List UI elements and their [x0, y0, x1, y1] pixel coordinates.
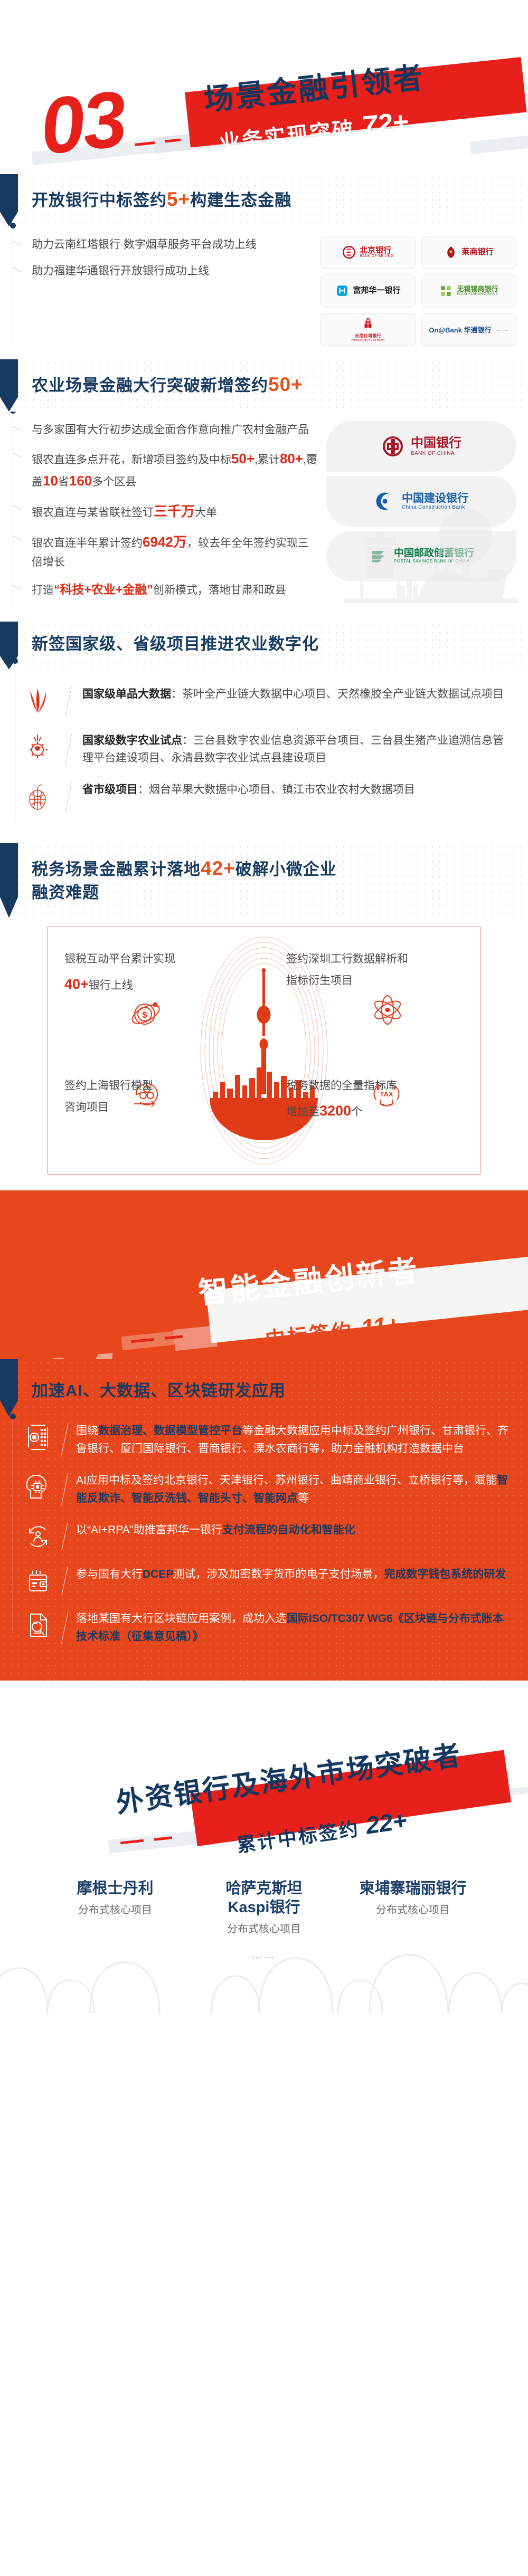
open-bank-section: 开放银行中标签约5+构建生态金融 助力云南红塔银行 数字烟草服务平台成功上线 助…	[0, 174, 528, 359]
overseas-bank-item: 柬埔寨瑞丽银行 分布式核心项目	[352, 1879, 474, 1916]
farm-tree-watermark-icon	[344, 505, 518, 622]
list-item-text: 落地某国有大行区块链应用案例，成功入选国际ISO/TC307 WG6《区块链与分…	[76, 1610, 512, 1646]
list-item: 落地某国有大行区块链应用案例，成功入选国际ISO/TC307 WG6《区块链与分…	[23, 1610, 512, 1646]
agri-bullets: 与多家国有大行初步达成全面合作意向推广农村金融产品 银农直连多点开花，新增项目签…	[23, 421, 318, 608]
heading-marker	[0, 359, 18, 412]
list-item: 国家级单品大数据：茶叶全产业链大数据中心项目、天然橡胶全产业链大数据试点项目	[21, 685, 507, 718]
yunnan-hongta-bank-logo-icon	[362, 317, 374, 330]
tea-leaf-icon	[21, 685, 54, 718]
open-bank-logo-grid: 北京银行BANK OF BEIJING 莱商银行 富邦华一银行 无锡锡	[320, 236, 516, 346]
bullet-item: 银农直连多点开花，新增项目签约及中标50+,累计80+,覆盖10省160多个区县	[23, 447, 318, 492]
heading-marker	[0, 1359, 18, 1417]
list-item: 参与国有大行DCEP测试，涉及加密数字货币的电子支付场景，完成数字钱包系统的研发	[23, 1566, 512, 1596]
bullet-item: 银农直连与某省联社签订三千万大单	[23, 500, 318, 522]
section-number-03: 03	[36, 79, 128, 166]
ai-heading: 加速AI、大数据、区块链研发应用	[32, 1377, 528, 1401]
agri-body: 与多家国有大行初步达成全面合作意向推广农村金融产品 银农直连多点开花，新增项目签…	[0, 412, 528, 622]
open-bank-heading-bar: 开放银行中标签约5+构建生态金融	[0, 174, 528, 226]
open-bank-body: 助力云南红塔银行 数字烟草服务平台成功上线 助力福建华通银行开放银行成功上线 北…	[0, 226, 528, 359]
logo-label: 北京银行BANK OF BEIJING	[360, 246, 393, 259]
overseas-bank-name: 哈萨克斯坦 Kaspi银行	[203, 1879, 325, 1917]
list-item: 以“AI+RPA”助推富邦华一银行支付流程的自动化和智能化	[23, 1521, 512, 1552]
list-item: 围绕数据治理、数据模型管控平台等金融大数据应用中标及签约广州银行、甘肃银行、齐鲁…	[23, 1422, 512, 1458]
logo-tile: 云南红塔银行 YUNNAN HONGTA BANK	[320, 313, 416, 346]
coin-dollar-orbit-icon: $	[127, 994, 165, 1032]
overseas-bank-project: 分布式核心项目	[352, 1901, 474, 1916]
agriculture-section: 农业场景金融大行突破新增签约50+ 与多家国有大行初步达成全面合作意向推广农村金…	[0, 359, 528, 622]
connector-line	[15, 670, 15, 822]
connector-dot	[12, 658, 18, 664]
wuxi-xishang-bank-logo-icon	[439, 284, 453, 298]
grain-gear-icon	[21, 732, 54, 765]
logo-label: On@Bank 华通银行	[429, 325, 491, 335]
cloud-decoration-icon	[0, 1934, 528, 2013]
quadrant-text: 签约上海银行模型咨询项目	[64, 1075, 196, 1119]
slash-divider	[63, 732, 73, 767]
overseas-bank-project: 分布式核心项目	[54, 1901, 176, 1916]
section-number-05: 05	[21, 1846, 112, 1855]
list-item-text: AI应用中标及签约北京银行、天津银行、苏州银行、曲靖商业银行、立桥银行等，赋能智…	[76, 1472, 512, 1508]
overseas-bank-item: 摩根士丹利 分布式核心项目	[54, 1879, 176, 1916]
heading-marker	[0, 843, 18, 918]
logo-label: 莱商银行	[461, 248, 493, 256]
connector-dot	[10, 1414, 16, 1419]
data-eye-icon	[23, 1422, 53, 1453]
bank-of-china-logo-icon	[381, 435, 404, 458]
infographic-page: 03 场景金融引领者 业务实现突破 72+ 开放银行中标签约5+构建生态金融 助…	[0, 0, 528, 2013]
more-ellipsis-icon: ……	[495, 326, 509, 332]
bank-of-beijing-logo-icon	[342, 245, 356, 259]
tax-heading: 税务场景金融累计落地42+破解小微企业融资难题	[32, 855, 528, 904]
apple-mesh-icon	[21, 781, 54, 814]
slash-divider	[63, 685, 73, 718]
decor-slab	[469, 135, 528, 154]
banner-section-04: 04 智能金融创新者 中标签约 11+	[0, 1190, 528, 1359]
national-heading-bar: 新签国家级、省级项目推进农业数字化	[0, 622, 528, 670]
quadrant-text: 银税互动平台累计实现40+银行上线	[64, 949, 196, 998]
national-heading: 新签国家级、省级项目推进农业数字化	[32, 633, 528, 656]
list-item-text: 以“AI+RPA”助推富邦华一银行支付流程的自动化和智能化	[76, 1521, 512, 1539]
logo-tile: 北京银行BANK OF BEIJING	[320, 236, 416, 269]
logo-tile: 莱商银行	[421, 236, 516, 269]
list-item-text: 国家级数字农业试点：三台县数字农业信息资源平台项目、三台县生猪产业追溯信息管理平…	[82, 732, 507, 767]
national-list: 国家级单品大数据：茶叶全产业链大数据中心项目、天然橡胶全产业链大数据试点项目 国…	[0, 670, 528, 843]
tax-heading-bar: 税务场景金融累计落地42+破解小微企业融资难题	[0, 843, 528, 918]
bullet-item: 打造“科技+农业+金融”创新模式，落地甘肃和政县	[23, 580, 318, 599]
banner-section-03: 03 场景金融引领者 业务实现突破 72+	[0, 0, 528, 174]
laishang-bank-logo-icon	[444, 245, 458, 259]
atom-icon	[369, 991, 407, 1029]
banner-section-05: 05 外资银行及海外市场突破者 累计中标签约 22+	[0, 1681, 528, 1855]
quadrant-text: 税务数据的全量指标库增加至3200个	[286, 1075, 418, 1125]
bullet-item: 与多家国有大行初步达成全面合作意向推广农村金融产品	[23, 421, 318, 439]
agri-bank-pills: 中国银行BANK OF CHINA 中国建设银行China Constructi…	[326, 421, 516, 581]
slash-divider	[60, 1610, 69, 1646]
bank-pill-label: 中国银行BANK OF CHINA	[411, 436, 461, 456]
slash-divider	[63, 781, 73, 814]
bank-pill: 中国银行BANK OF CHINA	[326, 421, 516, 472]
open-bank-heading: 开放银行中标签约5+构建生态金融	[32, 186, 528, 213]
slash-divider	[60, 1566, 69, 1596]
ai-list: 围绕数据治理、数据模型管控平台等金融大数据应用中标及签约广州银行、甘肃银行、齐鲁…	[0, 1417, 528, 1646]
list-item-text: 围绕数据治理、数据模型管控平台等金融大数据应用中标及签约广州银行、甘肃银行、齐鲁…	[76, 1422, 512, 1458]
ai-heading-bar: 加速AI、大数据、区块链研发应用	[0, 1359, 528, 1417]
section-number-04: 04	[27, 1340, 119, 1359]
national-projects-section: 新签国家级、省级项目推进农业数字化 国家级单品大数据：茶叶全产业链大数据中心项目…	[0, 622, 528, 843]
list-item: 国家级数字农业试点：三台县数字农业信息资源平台项目、三台县生猪产业追溯信息管理平…	[21, 732, 507, 767]
overseas-banks-section: 摩根士丹利 分布式核心项目 哈萨克斯坦 Kaspi银行 分布式核心项目 …… 柬…	[0, 1855, 528, 2013]
connector-dot	[10, 223, 16, 228]
connector-dot	[10, 412, 16, 414]
bullet-item: 银农直连半年累计签约6942万，较去年全年签约实现三倍增长	[23, 531, 318, 571]
logo-label: 富邦华一银行	[353, 287, 400, 295]
fubon-huayi-bank-logo-icon	[335, 284, 349, 298]
logo-tile: 富邦华一银行	[320, 274, 416, 307]
open-bank-bullets: 助力云南红塔银行 数字烟草服务平台成功上线 助力福建华通银行开放银行成功上线	[23, 236, 312, 289]
rpa-robot-cycle-icon	[23, 1521, 53, 1552]
connector-line	[13, 226, 13, 341]
quadrant-text: 签约深圳工行数据解析和指标衍生项目	[286, 949, 418, 992]
heading-marker	[0, 174, 18, 226]
agri-heading: 农业场景金融大行突破新增签约50+	[32, 371, 528, 398]
list-item: 省市级项目：烟台苹果大数据中心项目、镇江市农业农村大数据项目	[21, 781, 507, 814]
digital-wallet-icon	[23, 1566, 53, 1596]
connector-line	[13, 412, 13, 604]
bullet-item: 助力福建华通银行开放银行成功上线	[23, 262, 312, 280]
svg-text:$: $	[142, 1010, 147, 1020]
tax-quadrant-infographic: $	[48, 927, 480, 1175]
overseas-bank-name: 柬埔寨瑞丽银行	[352, 1879, 474, 1898]
connector-line	[13, 1417, 13, 1633]
ai-brain-chip-icon	[23, 1472, 53, 1502]
tax-section: 税务场景金融累计落地42+破解小微企业融资难题	[0, 843, 528, 1175]
logo-tile: 无锡锡商银行WUXI XISHANG BANK	[421, 274, 516, 307]
overseas-bank-name: 摩根士丹利	[54, 1879, 176, 1898]
blockchain-doc-icon	[23, 1610, 53, 1640]
ai-section: 加速AI、大数据、区块链研发应用 围绕数据治理、数据模型管控平台等金融大数据应用…	[0, 1359, 528, 1681]
slash-divider	[60, 1422, 69, 1458]
logo-label: 无锡锡商银行WUXI XISHANG BANK	[457, 285, 498, 297]
list-item-text: 参与国有大行DCEP测试，涉及加密数字货币的电子支付场景，完成数字钱包系统的研发	[76, 1566, 512, 1583]
slash-divider	[60, 1472, 69, 1508]
bullet-item: 助力云南红塔银行 数字烟草服务平台成功上线	[23, 236, 312, 254]
slash-divider	[60, 1521, 69, 1552]
list-item-text: 省市级项目：烟台苹果大数据中心项目、镇江市农业农村大数据项目	[82, 781, 507, 799]
logo-label: 云南红塔银行 YUNNAN HONGTA BANK	[351, 317, 385, 342]
agri-heading-bar: 农业场景金融大行突破新增签约50+	[0, 359, 528, 412]
list-item: AI应用中标及签约北京银行、天津银行、苏州银行、曲靖商业银行、立桥银行等，赋能智…	[23, 1472, 512, 1508]
logo-tile: On@Bank 华通银行 ……	[421, 313, 516, 346]
list-item-text: 国家级单品大数据：茶叶全产业链大数据中心项目、天然橡胶全产业链大数据试点项目	[82, 685, 507, 703]
